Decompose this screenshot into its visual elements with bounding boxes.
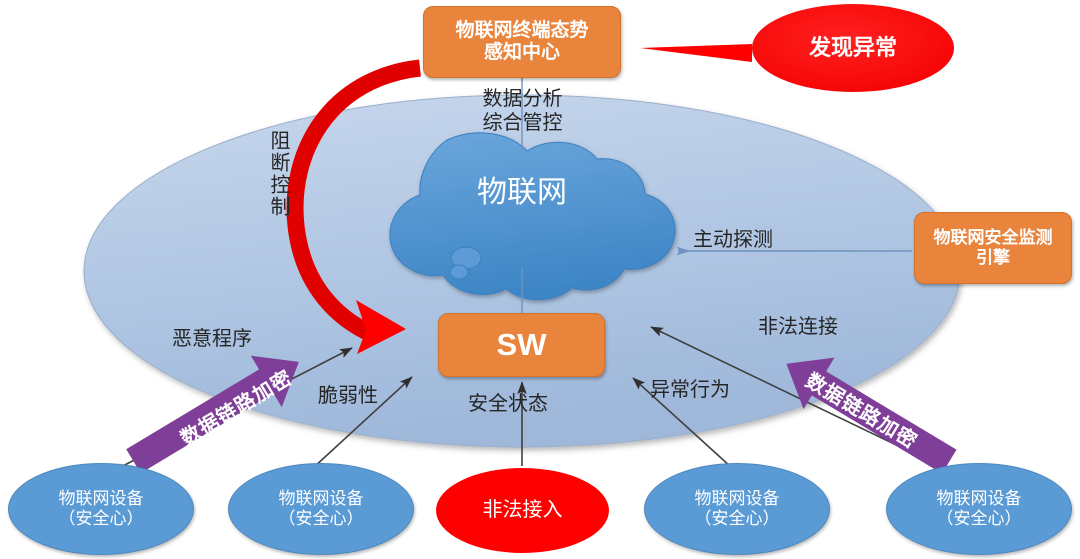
anomaly-callout-label: 发现异常 xyxy=(770,26,936,70)
block-control-label: 阻断控制 xyxy=(268,130,288,218)
situation-center-label-line2: 感知中心 xyxy=(484,42,560,64)
data-analysis-line1: 数据分析 xyxy=(483,88,563,112)
iot-cloud-label: 物联网 xyxy=(432,170,612,216)
device-node-2[interactable]: 物联网设备 （安全心） xyxy=(228,463,414,555)
data-analysis-label: 数据分析 综合管控 xyxy=(440,84,605,140)
security-engine-node[interactable]: 物联网安全监测 引擎 xyxy=(914,212,1072,284)
device-label-line1: 物联网设备 xyxy=(279,489,364,509)
active-probe-label: 主动探测 xyxy=(693,223,773,252)
device-node-4[interactable]: 物联网设备 （安全心） xyxy=(886,463,1072,555)
device-label-line2: （安全心） xyxy=(279,509,364,529)
device-label-line1: 物联网设备 xyxy=(59,489,144,509)
switch-node[interactable]: SW xyxy=(438,313,605,377)
security-engine-label-line1: 物联网安全监测 xyxy=(934,228,1053,248)
device-node-1[interactable]: 物联网设备 （安全心） xyxy=(8,463,194,555)
device-label-line1: 物联网设备 xyxy=(937,489,1022,509)
device-label-line2: （安全心） xyxy=(59,509,144,529)
data-analysis-line2: 综合管控 xyxy=(483,112,563,136)
security-engine-label-line2: 引擎 xyxy=(976,248,1010,268)
device-label-line2: （安全心） xyxy=(937,509,1022,529)
illegal-connection-label: 非法连接 xyxy=(758,310,838,339)
diagram-canvas: 物联网终端态势 感知中心 发现异常 数据分析 综合管控 物联网 阻断控制 主动探… xyxy=(0,0,1080,559)
malware-label: 恶意程序 xyxy=(172,322,252,351)
abnormal-behavior-label: 异常行为 xyxy=(650,373,730,402)
vulnerability-label: 脆弱性 xyxy=(318,379,378,408)
security-state-label: 安全状态 xyxy=(468,387,548,416)
device-label-line2: （安全心） xyxy=(695,509,780,529)
situation-center-label-line1: 物联网终端态势 xyxy=(455,20,588,42)
switch-node-label: SW xyxy=(497,327,547,364)
situation-center-node[interactable]: 物联网终端态势 感知中心 xyxy=(423,6,621,78)
illegal-access-label: 非法接入 xyxy=(483,499,563,523)
device-node-3[interactable]: 物联网设备 （安全心） xyxy=(644,463,830,555)
device-label-line1: 物联网设备 xyxy=(695,489,780,509)
illegal-access-node[interactable]: 非法接入 xyxy=(436,468,609,553)
